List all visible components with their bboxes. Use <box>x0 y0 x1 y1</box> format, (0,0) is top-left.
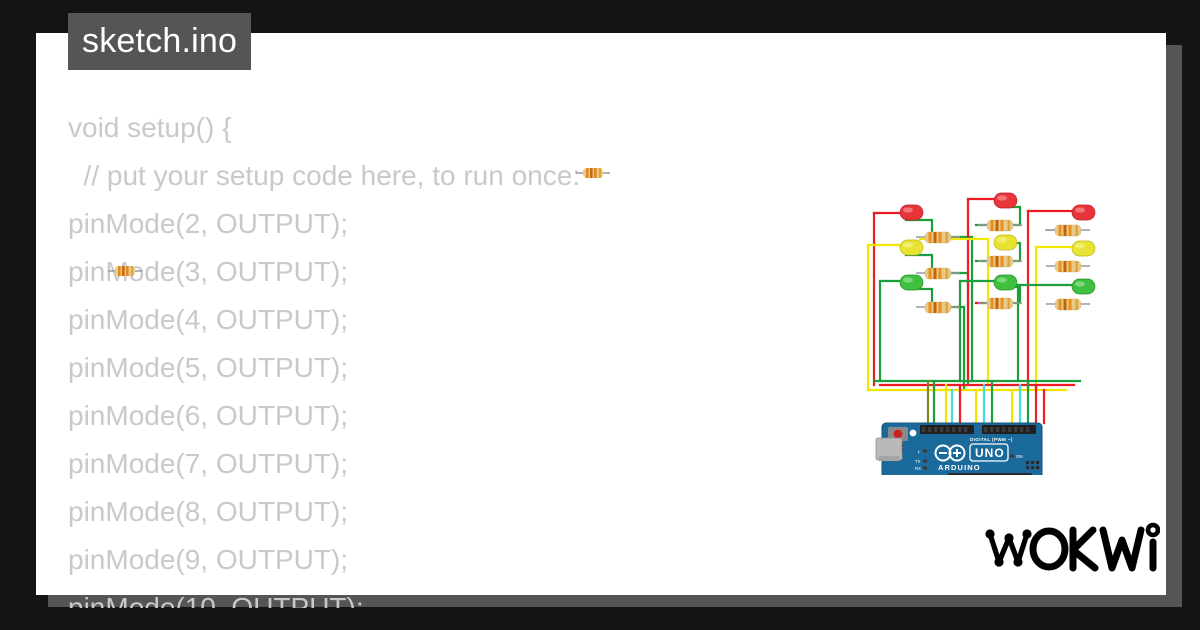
resistor <box>1046 299 1090 310</box>
led-green <box>1072 279 1095 294</box>
resistor <box>916 268 960 279</box>
svg-text:DIGITAL (PWM ~): DIGITAL (PWM ~) <box>970 437 1013 442</box>
file-tab-sketch-ino[interactable]: sketch.ino <box>68 13 251 70</box>
stray-resistor-icon <box>576 166 610 185</box>
wokwi-logo <box>985 518 1160 580</box>
code-line: pinMode(8, OUTPUT); <box>68 488 868 536</box>
code-line: pinMode(10, OUTPUT); <box>68 584 868 608</box>
svg-text:TX: TX <box>915 459 921 464</box>
led-red <box>900 205 923 220</box>
resistor <box>978 220 1022 231</box>
resistor <box>978 256 1022 267</box>
code-line: pinMode(7, OUTPUT); <box>68 440 868 488</box>
screenshot-root: sketch.ino void setup() { // put your se… <box>0 0 1200 630</box>
code-line: pinMode(6, OUTPUT); <box>68 392 868 440</box>
led-green <box>994 275 1017 290</box>
resistor-group <box>916 220 1090 313</box>
led-yellow <box>994 235 1017 250</box>
led-red <box>1072 205 1095 220</box>
resistor <box>916 302 960 313</box>
svg-text:UNO: UNO <box>975 446 1005 460</box>
code-line: pinMode(4, OUTPUT); <box>68 296 868 344</box>
code-line: pinMode(3, OUTPUT); <box>68 248 868 296</box>
svg-text:RX: RX <box>915 466 921 471</box>
svg-text:ARDUINO: ARDUINO <box>938 463 981 472</box>
resistor <box>1046 261 1090 272</box>
resistor <box>978 298 1022 309</box>
code-line: pinMode(5, OUTPUT); <box>68 344 868 392</box>
led-yellow <box>900 240 923 255</box>
code-line: // put your setup code here, to run once… <box>68 152 868 200</box>
led-yellow <box>1072 241 1095 256</box>
stray-resistor-icon <box>108 264 142 283</box>
code-line: pinMode(2, OUTPUT); <box>68 200 868 248</box>
led-green <box>900 275 923 290</box>
svg-text:ON: ON <box>1016 454 1023 459</box>
code-editor[interactable]: void setup() { // put your setup code he… <box>68 104 868 608</box>
circuit-diagram[interactable]: UNO ARDUINO DIGITAL (PWM ~) L TX RX ON <box>860 185 1120 475</box>
led-red <box>994 193 1017 208</box>
resistor <box>916 232 960 243</box>
code-line: pinMode(9, OUTPUT); <box>68 536 868 584</box>
code-line: void setup() { <box>68 104 868 152</box>
resistor <box>1046 225 1090 236</box>
arduino-uno-board: UNO ARDUINO DIGITAL (PWM ~) L TX RX ON <box>876 423 1042 475</box>
